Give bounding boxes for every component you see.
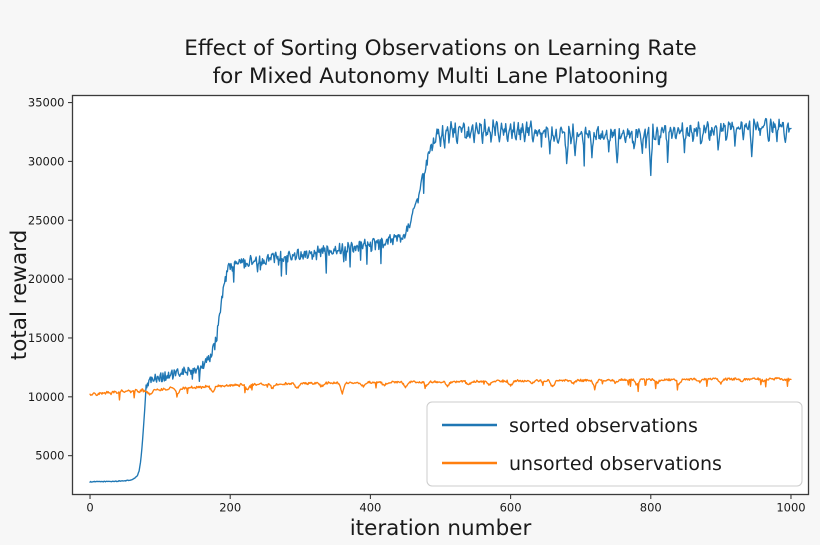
chart-title-line-1: Effect of Sorting Observations on Learni…: [184, 36, 696, 61]
x-axis-label: iteration number: [350, 516, 532, 541]
legend-label-0: sorted observations: [509, 415, 698, 437]
x-tick-label: 600: [500, 501, 522, 515]
chart-svg: Effect of Sorting Observations on Learni…: [0, 0, 820, 545]
x-tick-label: 200: [219, 501, 241, 515]
y-tick-label: 30000: [28, 154, 65, 168]
figure-canvas: Effect of Sorting Observations on Learni…: [0, 0, 820, 545]
x-tick-label: 800: [640, 501, 662, 515]
x-tick-label: 0: [86, 501, 93, 515]
y-tick-label: 15000: [28, 331, 65, 345]
y-tick-label: 5000: [35, 449, 64, 463]
x-tick-label: 1000: [776, 501, 805, 515]
y-axis-label: total reward: [7, 230, 32, 360]
chart-title-line-2: for Mixed Autonomy Multi Lane Platooning: [213, 64, 669, 89]
chart-legend[interactable]: sorted observationsunsorted observations: [427, 402, 802, 486]
y-tick-label: 35000: [28, 96, 65, 110]
x-tick-label: 400: [359, 501, 381, 515]
legend-label-1: unsorted observations: [509, 453, 722, 475]
y-tick-label: 20000: [28, 272, 65, 286]
y-tick-label: 10000: [28, 390, 65, 404]
y-tick-label: 25000: [28, 213, 65, 227]
